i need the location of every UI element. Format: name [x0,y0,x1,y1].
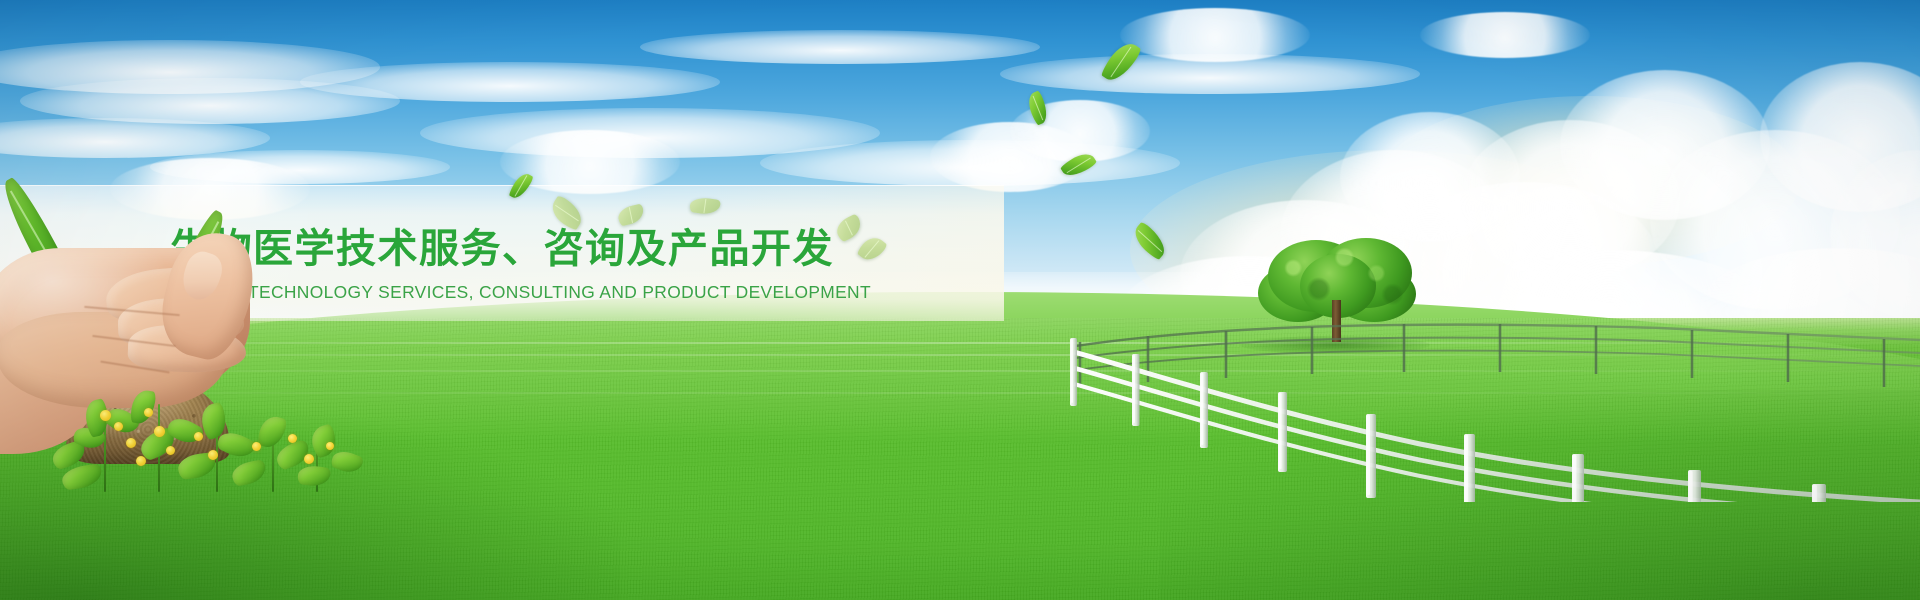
fence [1040,312,1920,502]
cloud-streak [0,40,380,94]
yellow-flower [252,442,261,451]
yellow-flower [194,432,203,441]
yellow-flower [304,454,314,464]
cloud-puff [1340,112,1520,242]
cloud-puff [1560,70,1770,220]
plant-leaf [230,459,267,487]
cloud-puff [1760,62,1920,212]
cloud-puff [1460,120,1680,280]
yellow-flower [288,434,297,443]
plant-leaf [297,464,331,488]
fence-svg [1040,312,1920,502]
yellow-flower [114,422,123,431]
cloud-streak [420,108,880,158]
yellow-flower [154,426,165,437]
yellow-flower [208,450,218,460]
plant-leaf [61,463,104,490]
cloud-puff [1830,150,1920,320]
cloud-puff [1650,130,1900,310]
cloud-streak [1000,54,1420,94]
cloud-streak [300,62,720,102]
cloud-streak [760,140,1180,186]
cloud-streak [20,78,400,124]
cloud-puff [1120,8,1310,62]
yellow-flower [100,410,111,421]
banner-hero: 生物医学技术服务、咨询及产品开发 BIOMEDICAL TECHNOLOGY S… [0,0,1920,600]
yellow-flower [166,446,175,455]
plant-leaf [129,388,157,425]
fence-near-section [1070,338,1920,502]
plant-leaf [329,447,364,477]
yellow-flower [144,408,153,417]
yellow-flower [126,438,136,448]
cloud-streak [640,30,1040,64]
warm-haze [1380,96,1800,266]
foliage-cluster [40,382,370,494]
yellow-flower [136,456,146,466]
yellow-flower [326,442,334,450]
cloud-puff [930,122,1090,192]
cloud-puff [1420,12,1590,58]
